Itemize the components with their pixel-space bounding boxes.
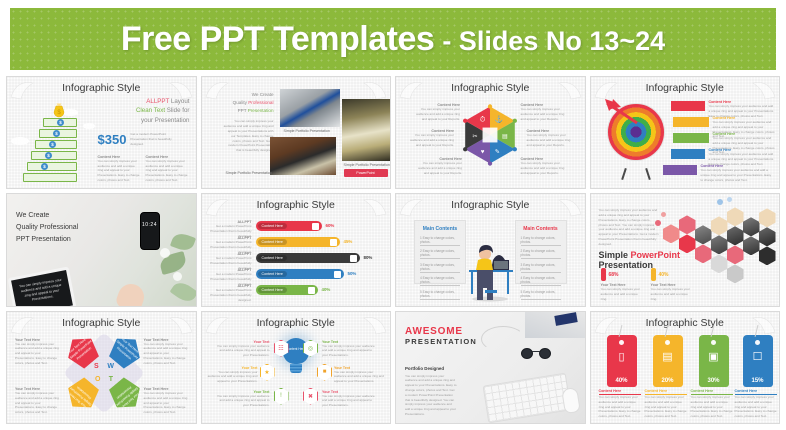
section-body: You can simply impress your audience and… — [405, 374, 457, 417]
hex-body: You can simply impress your audience and… — [322, 394, 376, 408]
slide-5-headline: We Create Quality Professional PPT Prese… — [16, 210, 78, 246]
headline-part: Clean Text — [136, 107, 165, 114]
swot-label-3: Your Text Here You can simply impress yo… — [15, 387, 59, 415]
card-item: 2 Easy to change colors, photos. — [521, 249, 561, 259]
slide-thumbnail-3[interactable]: Infographic Style ⏱ ⚓ ▤ ✎ ♥ ✂ C — [395, 76, 586, 189]
stat-block-2: 40% Your Text Here You can simply impres… — [651, 268, 691, 301]
slide-thumbnail-5[interactable]: We Create Quality Professional PPT Prese… — [6, 193, 197, 306]
tag-text-4: Content Here You can simply impress your… — [735, 389, 777, 419]
card-item: 1 Easy to change colors, photos. — [521, 236, 561, 246]
hexagon-photo-tile — [711, 235, 728, 254]
headline-part: Simple — [599, 250, 631, 260]
portfolio-text-block: Portfolio Designed You can simply impres… — [405, 366, 457, 424]
slide-thumbnail-6[interactable]: Infographic Style ALLPPT Get a modern Po… — [201, 193, 392, 306]
hexagon-tile — [679, 234, 696, 253]
close-box-icon: ✖ — [303, 388, 318, 405]
target-stand — [621, 168, 651, 180]
label-body: You can simply impress your audience and… — [144, 391, 188, 415]
tag-hole — [755, 340, 760, 345]
stripe-5 — [663, 165, 697, 175]
bar-4: Content Here — [256, 269, 344, 279]
hex-text-1: Your Text You can simply impress your au… — [216, 340, 270, 358]
swot-letter-t: T — [109, 376, 113, 383]
bar-label: Content Here — [258, 255, 287, 261]
hexagon-tile — [727, 207, 744, 226]
bar-label: Content Here — [258, 287, 287, 293]
laptop-icon: ▤ — [653, 350, 683, 363]
bar-label: Content Here — [258, 271, 287, 277]
headline-line-1: AWESOME — [405, 326, 477, 337]
bar-2: Content Here — [256, 237, 340, 247]
price-tag-2: ▤ 20% — [653, 335, 683, 387]
stripe-label-5: Content Here You can simply impress your… — [701, 164, 773, 182]
stripe-1 — [671, 101, 705, 111]
slide-thumbnail-2[interactable]: We Create Quality Professional PPT Prese… — [201, 76, 392, 189]
hex-text-5: Your Text You can simply impress your au… — [334, 366, 386, 384]
card-item: 4 Easy to change colors, photos. — [521, 276, 561, 286]
bar-3: Content Here — [256, 253, 360, 263]
banner-text: Free PPT Templates - Slides No 13~24 — [121, 20, 665, 59]
stripe-4 — [671, 149, 705, 159]
monitor-icon: ☐ — [743, 350, 773, 363]
mobile-icon — [330, 239, 337, 246]
slide-title: Infographic Style — [7, 82, 196, 94]
stripe-2 — [673, 117, 709, 127]
slide-8-body: You can simply impress your audience and… — [599, 208, 661, 246]
slide-title: Infographic Style — [202, 317, 391, 329]
label-body: You can simply impress your audience and… — [416, 107, 460, 121]
photo-money-laptop — [270, 137, 336, 175]
svg-text:⏱: ⏱ — [480, 116, 485, 123]
swot-letter-o: O — [95, 376, 100, 383]
column-body: You can simply impress your audience and… — [98, 159, 140, 183]
template-gallery-page: Free PPT Templates - Slides No 13~24 Inf… — [0, 0, 786, 430]
cursor-icon — [312, 223, 319, 230]
hex-body: You can simply impress your audience and… — [334, 370, 386, 384]
photo-caption: Simple Portfolio Presentation — [226, 171, 272, 175]
petal-text: Your Text Here. Simple PowerPoint Presen… — [61, 330, 98, 366]
mobile-icon: ▯ — [607, 350, 637, 363]
hex-body: You can simply impress your audience and… — [216, 394, 270, 408]
tag-body: You can simply impress your audience and… — [691, 395, 733, 419]
slide-2-body: You can simply impress your audience and… — [224, 119, 274, 152]
slide-8-headline: Simple PowerPoint Presentation — [599, 250, 681, 270]
hex-body: You can simply impress your audience and… — [206, 370, 258, 384]
hexagon-photo-tile — [759, 227, 776, 246]
stripe-body: You can simply impress your audience and… — [701, 168, 773, 182]
headline-part: Presentation — [248, 108, 274, 113]
slide-title: Infographic Style — [396, 82, 585, 94]
price-tag-1: ▯ 40% — [607, 335, 637, 387]
header-banner: Free PPT Templates - Slides No 13~24 — [10, 8, 776, 70]
smartphone-photo: 10:24 — [140, 212, 160, 250]
bar-percent-1: 60% — [326, 223, 335, 228]
stat-body: You can simply impress your audience and… — [601, 287, 641, 301]
slide-thumbnail-1[interactable]: Infographic Style $ $ $ $ $ — [6, 76, 197, 189]
tag-text-1: Content Here You can simply impress your… — [599, 389, 641, 419]
card-item: 5 Easy to change colors, photos. — [420, 290, 460, 300]
swot-label-1: Your Text Here You can simply impress yo… — [15, 338, 59, 366]
bar-label: Content Here — [258, 223, 287, 229]
slide-thumbnail-8[interactable]: You can simply impress your audience and… — [590, 193, 781, 306]
hex-label-4: Content Here You can simply impress your… — [521, 103, 565, 121]
shield-icon: ★ — [260, 364, 275, 381]
hex-label-3: Content Here You can simply impress your… — [418, 157, 462, 175]
slide-title: Infographic Style — [7, 317, 196, 329]
hex-label-5: Content Here You can simply impress your… — [527, 129, 573, 147]
alert-icon: ! — [274, 388, 289, 405]
slide-1-headline: ALLPPT Layout Clean Text Slide for your … — [98, 97, 190, 125]
tag-body: You can simply impress your audience and… — [599, 395, 641, 419]
hexagon-tile — [727, 264, 744, 283]
photo-caption: Simple Portfolio Presentation — [344, 163, 390, 167]
card-item: 2 Easy to change colors, photos. — [420, 249, 460, 259]
badge-icon: ■ — [317, 364, 332, 381]
hexagon-tile — [663, 224, 680, 243]
label-body: You can simply impress your audience and… — [418, 161, 462, 175]
slide-thumbnail-4[interactable]: Infographic Style Content Here You can s… — [590, 76, 781, 189]
hexagon-tile — [759, 246, 776, 265]
card-item: 4 Easy to change colors, photos. — [420, 276, 460, 286]
slide-thumbnail-9[interactable]: Infographic Style Your Text Here. Simple… — [6, 311, 197, 424]
slide-thumbnail-grid: Infographic Style $ $ $ $ $ — [6, 76, 780, 424]
section-footnote: Get a modern PowerPoint Presentation tha… — [405, 422, 457, 424]
hexagon-tile — [711, 254, 728, 273]
bar-label: Content Here — [258, 239, 287, 245]
hex-body: You can simply impress your audience and… — [216, 344, 270, 358]
tag-text-3: Content Here You can simply impress your… — [691, 389, 733, 419]
card-heading: Main Contents — [516, 226, 566, 232]
hex-text-2: Your Text You can simply impress your au… — [206, 366, 258, 384]
lightbulb-icon: Content Here — [283, 338, 309, 372]
swot-center-letters: S W O T — [94, 363, 114, 383]
money-bag-icon: $ — [51, 102, 67, 118]
headline-part: PPT — [238, 108, 248, 113]
money-stairs-graphic: $ $ $ $ $ $ — [21, 104, 99, 182]
hexagon-photo-tile — [695, 225, 712, 244]
dot — [717, 199, 723, 205]
swot-diagram: Your Text Here. Simple PowerPoint Presen… — [63, 334, 145, 412]
petal-text: Your Text Here. Simple PowerPoint Presen… — [110, 380, 147, 416]
headline-part: Slide for — [165, 107, 189, 114]
bar-text-5: ALLPPT Get a modern PowerPoint Presentat… — [208, 284, 252, 302]
stat-percent: 40% — [659, 272, 669, 278]
earphones-photo — [481, 326, 525, 352]
column-body: You can simply impress your audience and… — [146, 159, 188, 183]
card-item: 1 Easy to change colors, photos. — [420, 236, 460, 246]
svg-text:♥: ♥ — [481, 148, 485, 155]
tag-percent: 20% — [653, 378, 683, 384]
tag-hole — [711, 340, 716, 345]
headline-line: Quality Professional — [16, 224, 78, 231]
hex-label-1: Content Here You can simply impress your… — [416, 103, 460, 121]
slide-title: Infographic Style — [202, 199, 391, 211]
slide-thumbnail-7[interactable]: Infographic Style Main Contents 1 Easy t… — [395, 193, 586, 306]
label-body: You can simply impress your audience and… — [527, 133, 573, 147]
bar-percent-4: 50% — [348, 271, 357, 276]
petal-text: Your Text Here. Simple PowerPoint Presen… — [110, 330, 147, 366]
label-body: You can simply impress your audience and… — [15, 342, 59, 366]
section-heading: Portfolio Designed — [405, 366, 457, 371]
label-body: You can simply impress your audience and… — [408, 133, 454, 147]
phone-clock-time: 10:24 — [141, 222, 159, 228]
svg-text:✂: ✂ — [473, 133, 478, 140]
hex-text-4: Your Text You can simply impress your au… — [322, 340, 376, 358]
slide-thumbnail-11[interactable]: AWESOME PRESENTATION Portfolio Designed … — [395, 311, 586, 424]
main-contents-card-right: Main Contents 1 Easy to change colors, p… — [515, 220, 567, 284]
card-item: 3 Easy to change colors, photos. — [420, 263, 460, 273]
tag-body: You can simply impress your audience and… — [735, 395, 777, 419]
bar-percent-3: 80% — [364, 255, 373, 260]
tag-hole — [619, 340, 624, 345]
price-value: $350 — [98, 132, 127, 147]
slide-2-headline: We Create Quality Professional PPT Prese… — [224, 91, 274, 114]
hexagon-tile — [711, 216, 728, 235]
bar-percent-5: 40% — [322, 287, 331, 292]
camera-icon: ▣ — [699, 350, 729, 363]
svg-text:✎: ✎ — [495, 148, 500, 155]
card-item: 5 Easy to change colors, photos. — [521, 290, 561, 300]
hexagon-photo-tile — [727, 226, 744, 245]
tag-hole — [665, 340, 670, 345]
slide-thumbnail-10[interactable]: Infographic Style Content Here ☷ ★ ! ◎ ■… — [201, 311, 392, 424]
hex-label-6: Content Here You can simply impress your… — [521, 157, 565, 175]
laptop-icon — [334, 271, 341, 278]
headline-part: PowerPoint — [631, 250, 681, 260]
tag-percent: 15% — [743, 378, 773, 384]
photo-caption: Simple Portfolio Presentation — [284, 129, 330, 133]
photo-glass — [342, 99, 390, 161]
hexagon-photo-tile — [743, 217, 760, 236]
headline-part: Quality — [233, 100, 249, 105]
tag-text-2: Content Here You can simply impress your… — [645, 389, 687, 419]
person-at-laptop-illustration — [463, 242, 517, 302]
tablet-icon — [350, 255, 357, 262]
headline-line: PPT Presentation — [16, 236, 71, 243]
price-tag-3: ▣ 30% — [699, 335, 729, 387]
price-note: Get a modern PowerPoint Presentation tha… — [130, 132, 176, 146]
svg-text:▤: ▤ — [502, 133, 508, 140]
hexagon-tile — [679, 215, 696, 234]
headline-part: We Create — [252, 92, 274, 97]
banner-title: Free PPT Templates — [121, 20, 435, 59]
label-body: You can simply impress your audience and… — [521, 161, 565, 175]
arrow-icon — [603, 97, 655, 143]
bulb-base — [290, 364, 302, 373]
stat-block-1: 68% Your Text Here You can simply impres… — [601, 268, 641, 301]
hex-label-2: Content Here You can simply impress your… — [408, 129, 454, 147]
hexagon-photo-tile — [743, 236, 760, 255]
hex-body: You can simply impress your audience and… — [322, 344, 376, 358]
main-contents-card-left: Main Contents 1 Easy to change colors, p… — [414, 220, 466, 284]
slide-title: Infographic Style — [396, 199, 585, 211]
slide-title: Infographic Style — [591, 317, 780, 329]
bar-5: Content Here — [256, 285, 318, 295]
hexagon-tile — [727, 245, 744, 264]
swot-label-2: Your Text Here You can simply impress yo… — [144, 338, 188, 366]
hexagon-tile — [759, 208, 776, 227]
headline-part: Layout — [169, 98, 189, 105]
tablet-screen-text: You can simply impress your audience and… — [11, 271, 71, 307]
card-item: 3 Easy to change colors, photos. — [521, 263, 561, 273]
stat-body: You can simply impress your audience and… — [651, 287, 691, 301]
dot — [655, 220, 661, 226]
dot — [727, 197, 732, 202]
powerpoint-button[interactable]: PowerPoint — [344, 169, 388, 177]
headline-line-2: PRESENTATION — [405, 337, 477, 346]
swot-letter-s: S — [94, 363, 99, 370]
card-heading: Main Contents — [415, 226, 465, 232]
sunglasses-photo — [521, 348, 551, 359]
monitor-icon — [308, 287, 315, 294]
hexagon-wheel-graphic: ⏱ ⚓ ▤ ✎ ♥ ✂ — [459, 104, 521, 166]
tag-body: You can simply impress your audience and… — [645, 395, 687, 419]
person-figure-icon — [601, 268, 606, 281]
headline-line: We Create — [16, 212, 49, 219]
label-body: You can simply impress your audience and… — [144, 342, 188, 366]
swot-letter-w: W — [107, 363, 114, 370]
hexagon-tile — [695, 244, 712, 263]
photo-tools — [280, 89, 340, 127]
headline-part: ALLPPT — [146, 98, 169, 105]
flower-shape — [173, 272, 182, 281]
slide-thumbnail-12[interactable]: Infographic Style ▯ 40% Content Here You… — [590, 311, 781, 424]
bar-1: Content Here — [256, 221, 322, 231]
bar-percent-2: 45% — [344, 239, 353, 244]
tag-percent: 30% — [699, 378, 729, 384]
headline-part: your Presentation — [141, 117, 190, 124]
swot-label-4: Your Text Here You can simply impress yo… — [144, 387, 188, 415]
dot — [661, 212, 666, 217]
person-figure-icon — [651, 268, 656, 281]
flower-shape — [160, 248, 170, 258]
tag-percent: 40% — [607, 378, 637, 384]
slide-title: Infographic Style — [591, 82, 780, 94]
label-body: You can simply impress your audience and… — [15, 391, 59, 415]
awesome-headline: AWESOME PRESENTATION — [405, 326, 477, 346]
petal-text: Your Text Here. Simple PowerPoint Presen… — [61, 380, 98, 416]
stripe-3 — [673, 133, 709, 143]
bar-body: Get a modern PowerPoint Presentation tha… — [208, 288, 252, 302]
hex-text-3: Your Text You can simply impress your au… — [216, 390, 270, 408]
hex-text-6: Your Text You can simply impress your au… — [322, 390, 376, 408]
headline-part: Professional — [248, 100, 273, 105]
label-body: You can simply impress your audience and… — [521, 107, 565, 121]
slide-1-text-column: ALLPPT Layout Clean Text Slide for your … — [98, 97, 190, 183]
stat-percent: 68% — [609, 272, 619, 278]
banner-subtitle: - Slides No 13~24 — [442, 26, 665, 57]
price-tag-4: ☐ 15% — [743, 335, 773, 387]
